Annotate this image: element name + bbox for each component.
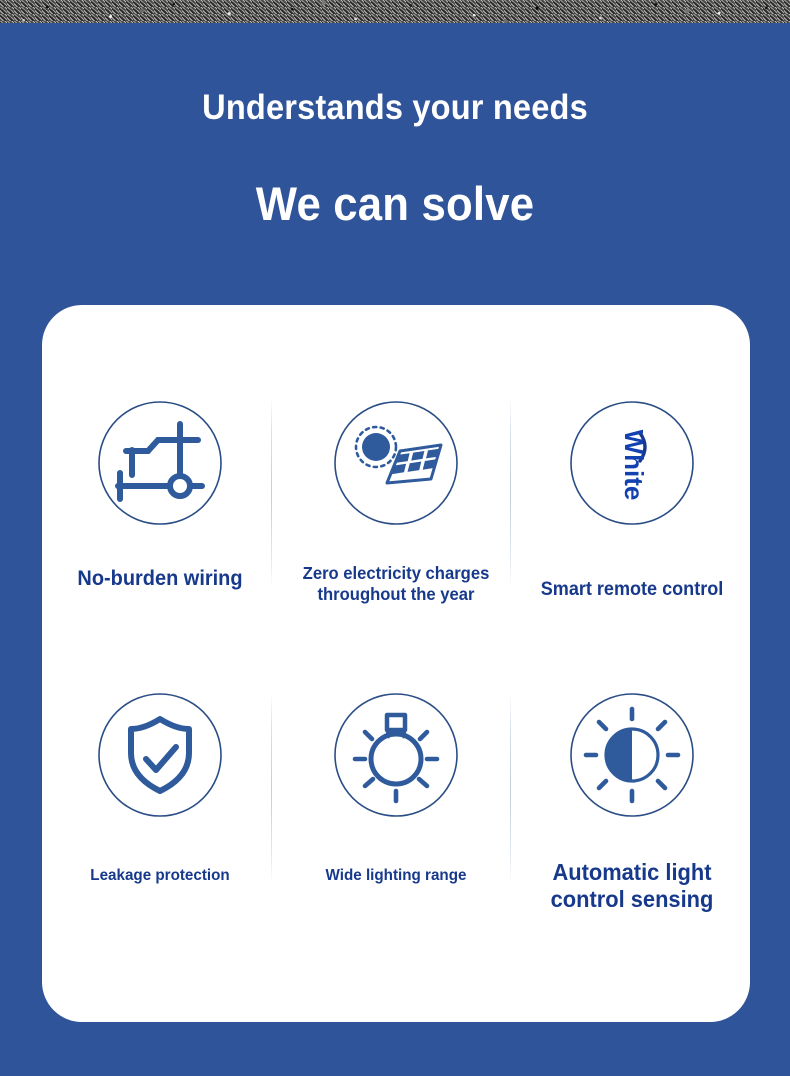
feature-label-zero-electricity: Zero electricity charges throughout the …: [284, 563, 508, 604]
feature-label-line1: Zero electricity charges: [303, 563, 490, 583]
feature-item-automatic-light-control[interactable]: Automatic light control sensing: [514, 691, 750, 931]
feature-label-no-burden-wiring: No-burden wiring: [48, 567, 272, 592]
feature-item-wide-lighting-range[interactable]: Wide lighting range: [278, 691, 514, 931]
page-title-line1: Understands your needs: [28, 88, 763, 128]
feature-label-automatic-light-control: Automatic light control sensing: [520, 859, 744, 913]
feature-item-no-burden-wiring[interactable]: No-burden wiring: [42, 395, 278, 635]
remote-icon-text: White: [619, 430, 649, 501]
solar-panel-sun-icon: [332, 399, 460, 527]
remote-control-white-icon: White: [568, 399, 696, 527]
feature-label-line1: Automatic light: [552, 859, 711, 885]
feature-item-zero-electricity[interactable]: Zero electricity charges throughout the …: [278, 395, 514, 635]
feature-label-wide-lighting-range: Wide lighting range: [284, 867, 508, 886]
feature-label-leakage-protection: Leakage protection: [48, 867, 272, 886]
granite-texture-strip: [0, 0, 790, 23]
features-grid: No-burden wiring: [42, 305, 750, 1022]
promo-banner: Understands your needs We can solve: [0, 0, 790, 1076]
features-card: No-burden wiring: [42, 305, 750, 1022]
day-night-sun-sensor-icon: [568, 691, 696, 819]
feature-item-smart-remote-control[interactable]: White Smart remote control: [514, 395, 750, 635]
feature-label-smart-remote-control: Smart remote control: [520, 579, 744, 601]
shield-check-icon: [96, 691, 224, 819]
lamp-rays-icon: [332, 691, 460, 819]
circuit-wiring-icon: [96, 399, 224, 527]
page-title-line2: We can solve: [28, 176, 763, 231]
feature-item-leakage-protection[interactable]: Leakage protection: [42, 691, 278, 931]
feature-label-line2: control sensing: [551, 886, 714, 912]
feature-label-line2: throughout the year: [317, 584, 474, 604]
